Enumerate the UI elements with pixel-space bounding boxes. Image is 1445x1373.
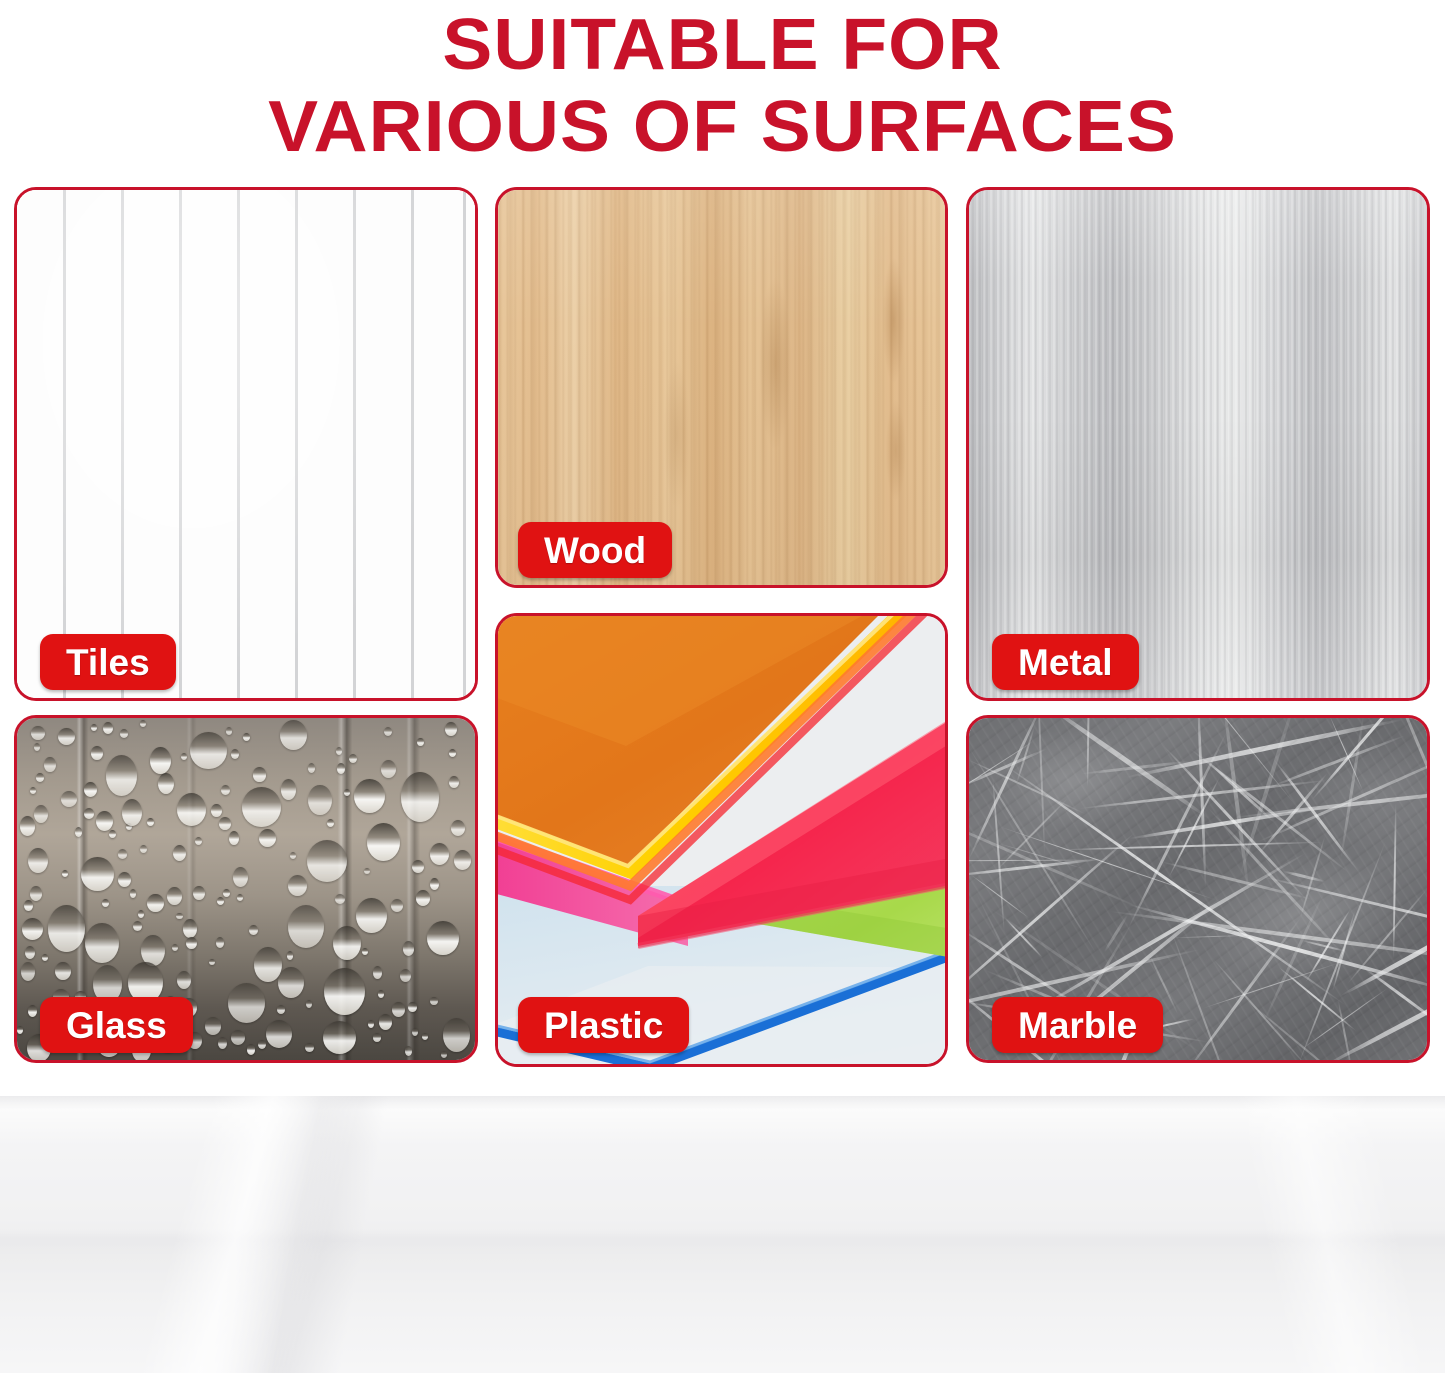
water-droplet — [430, 843, 449, 865]
water-droplet — [412, 1028, 418, 1036]
water-droplet — [323, 1021, 356, 1054]
water-droplet — [379, 1014, 392, 1029]
water-droplet — [205, 1017, 221, 1034]
water-droplet — [91, 746, 104, 760]
water-droplet — [231, 749, 239, 759]
water-droplet — [84, 808, 94, 818]
water-droplet — [349, 754, 357, 763]
water-droplet — [449, 776, 459, 787]
water-droplet — [243, 733, 250, 741]
surface-label-plastic: Plastic — [518, 997, 689, 1053]
water-droplet — [368, 1020, 374, 1028]
water-droplet — [172, 944, 178, 951]
water-droplet — [454, 850, 472, 870]
water-droplet — [333, 926, 361, 961]
water-droplet — [61, 791, 77, 808]
water-droplet — [102, 899, 109, 907]
surface-card-metal[interactable] — [966, 187, 1430, 701]
water-droplet — [344, 789, 350, 796]
water-droplet — [228, 983, 265, 1023]
water-droplet — [278, 967, 304, 998]
water-droplet — [308, 785, 331, 815]
tiles-texture — [17, 190, 475, 698]
water-droplet — [422, 1033, 428, 1040]
water-droplet — [412, 860, 424, 873]
water-droplet — [335, 894, 345, 904]
water-droplet — [36, 773, 44, 781]
water-droplet — [253, 767, 267, 781]
water-droplet — [167, 887, 182, 905]
page-title: SUITABLE FOR VARIOUS OF SURFACES — [0, 4, 1445, 168]
water-droplet — [280, 720, 307, 751]
surface-label-marble: Marble — [992, 997, 1163, 1053]
water-droplet — [288, 905, 325, 948]
water-droplet — [281, 779, 296, 799]
water-droplet — [305, 1043, 314, 1053]
water-droplet — [120, 729, 129, 738]
water-droplet — [25, 946, 35, 958]
water-droplet — [290, 852, 297, 859]
water-droplet — [401, 772, 440, 822]
water-droplet — [85, 923, 119, 963]
surface-label-tiles: Tiles — [40, 634, 176, 690]
product-surface-band — [0, 1096, 1445, 1373]
water-droplet — [186, 937, 197, 950]
water-droplet — [62, 870, 68, 877]
water-droplet — [30, 787, 37, 794]
water-droplet — [44, 757, 56, 772]
water-droplet — [118, 872, 131, 887]
water-droplet — [193, 886, 205, 901]
water-droplet — [147, 818, 154, 826]
water-droplet — [219, 817, 231, 829]
water-droplet — [391, 899, 403, 912]
water-droplet — [28, 848, 48, 873]
water-droplet — [384, 727, 392, 736]
water-droplet — [58, 728, 75, 745]
water-droplet — [237, 894, 243, 901]
water-droplet — [408, 1002, 417, 1013]
water-droplet — [354, 779, 385, 813]
water-droplet — [183, 919, 197, 938]
water-droplet — [21, 962, 35, 980]
metal-texture — [969, 190, 1427, 698]
water-droplet — [445, 722, 457, 736]
water-droplet — [42, 954, 48, 961]
water-droplet — [430, 878, 439, 890]
water-droplet — [287, 951, 294, 960]
page-title-line-1: SUITABLE FOR — [0, 4, 1445, 86]
water-droplet — [266, 1020, 292, 1048]
water-droplet — [150, 747, 171, 774]
page-title-line-2: VARIOUS OF SURFACES — [0, 86, 1445, 168]
water-droplet — [109, 830, 116, 838]
water-droplet — [20, 816, 35, 835]
water-droplet — [177, 971, 191, 989]
water-droplet — [84, 782, 97, 797]
water-droplet — [22, 918, 43, 940]
water-droplet — [30, 886, 42, 900]
water-droplet — [430, 997, 438, 1006]
water-droplet — [449, 749, 456, 757]
water-droplet — [81, 857, 114, 891]
water-droplet — [403, 941, 414, 956]
surface-card-tiles[interactable] — [14, 187, 478, 701]
water-droplet — [55, 962, 70, 980]
water-droplet — [91, 724, 97, 731]
water-droplet — [242, 787, 281, 826]
water-droplet — [221, 785, 230, 795]
water-droplet — [443, 1018, 470, 1052]
water-droplet — [451, 820, 465, 836]
water-droplet — [324, 968, 365, 1016]
water-droplet — [223, 889, 230, 897]
water-droplet — [356, 898, 386, 933]
water-droplet — [48, 905, 85, 951]
water-droplet — [138, 910, 144, 918]
water-droplet — [211, 804, 221, 817]
water-droplet — [216, 937, 224, 948]
water-droplet — [337, 763, 345, 774]
water-droplet — [367, 823, 400, 861]
surface-label-metal: Metal — [992, 634, 1139, 690]
surface-label-glass: Glass — [40, 997, 193, 1053]
water-droplet — [258, 1040, 266, 1049]
water-droplet — [373, 1033, 381, 1042]
water-droplet — [75, 827, 82, 837]
water-droplet — [181, 753, 187, 760]
water-droplet — [176, 913, 182, 919]
water-droplet — [247, 1044, 255, 1054]
water-droplet — [307, 840, 347, 882]
water-droplet — [195, 837, 202, 845]
water-droplet — [24, 900, 33, 912]
water-droplet — [254, 947, 281, 982]
water-droplet — [427, 921, 459, 955]
surface-label-wood: Wood — [518, 522, 672, 578]
water-droplet — [217, 897, 224, 905]
